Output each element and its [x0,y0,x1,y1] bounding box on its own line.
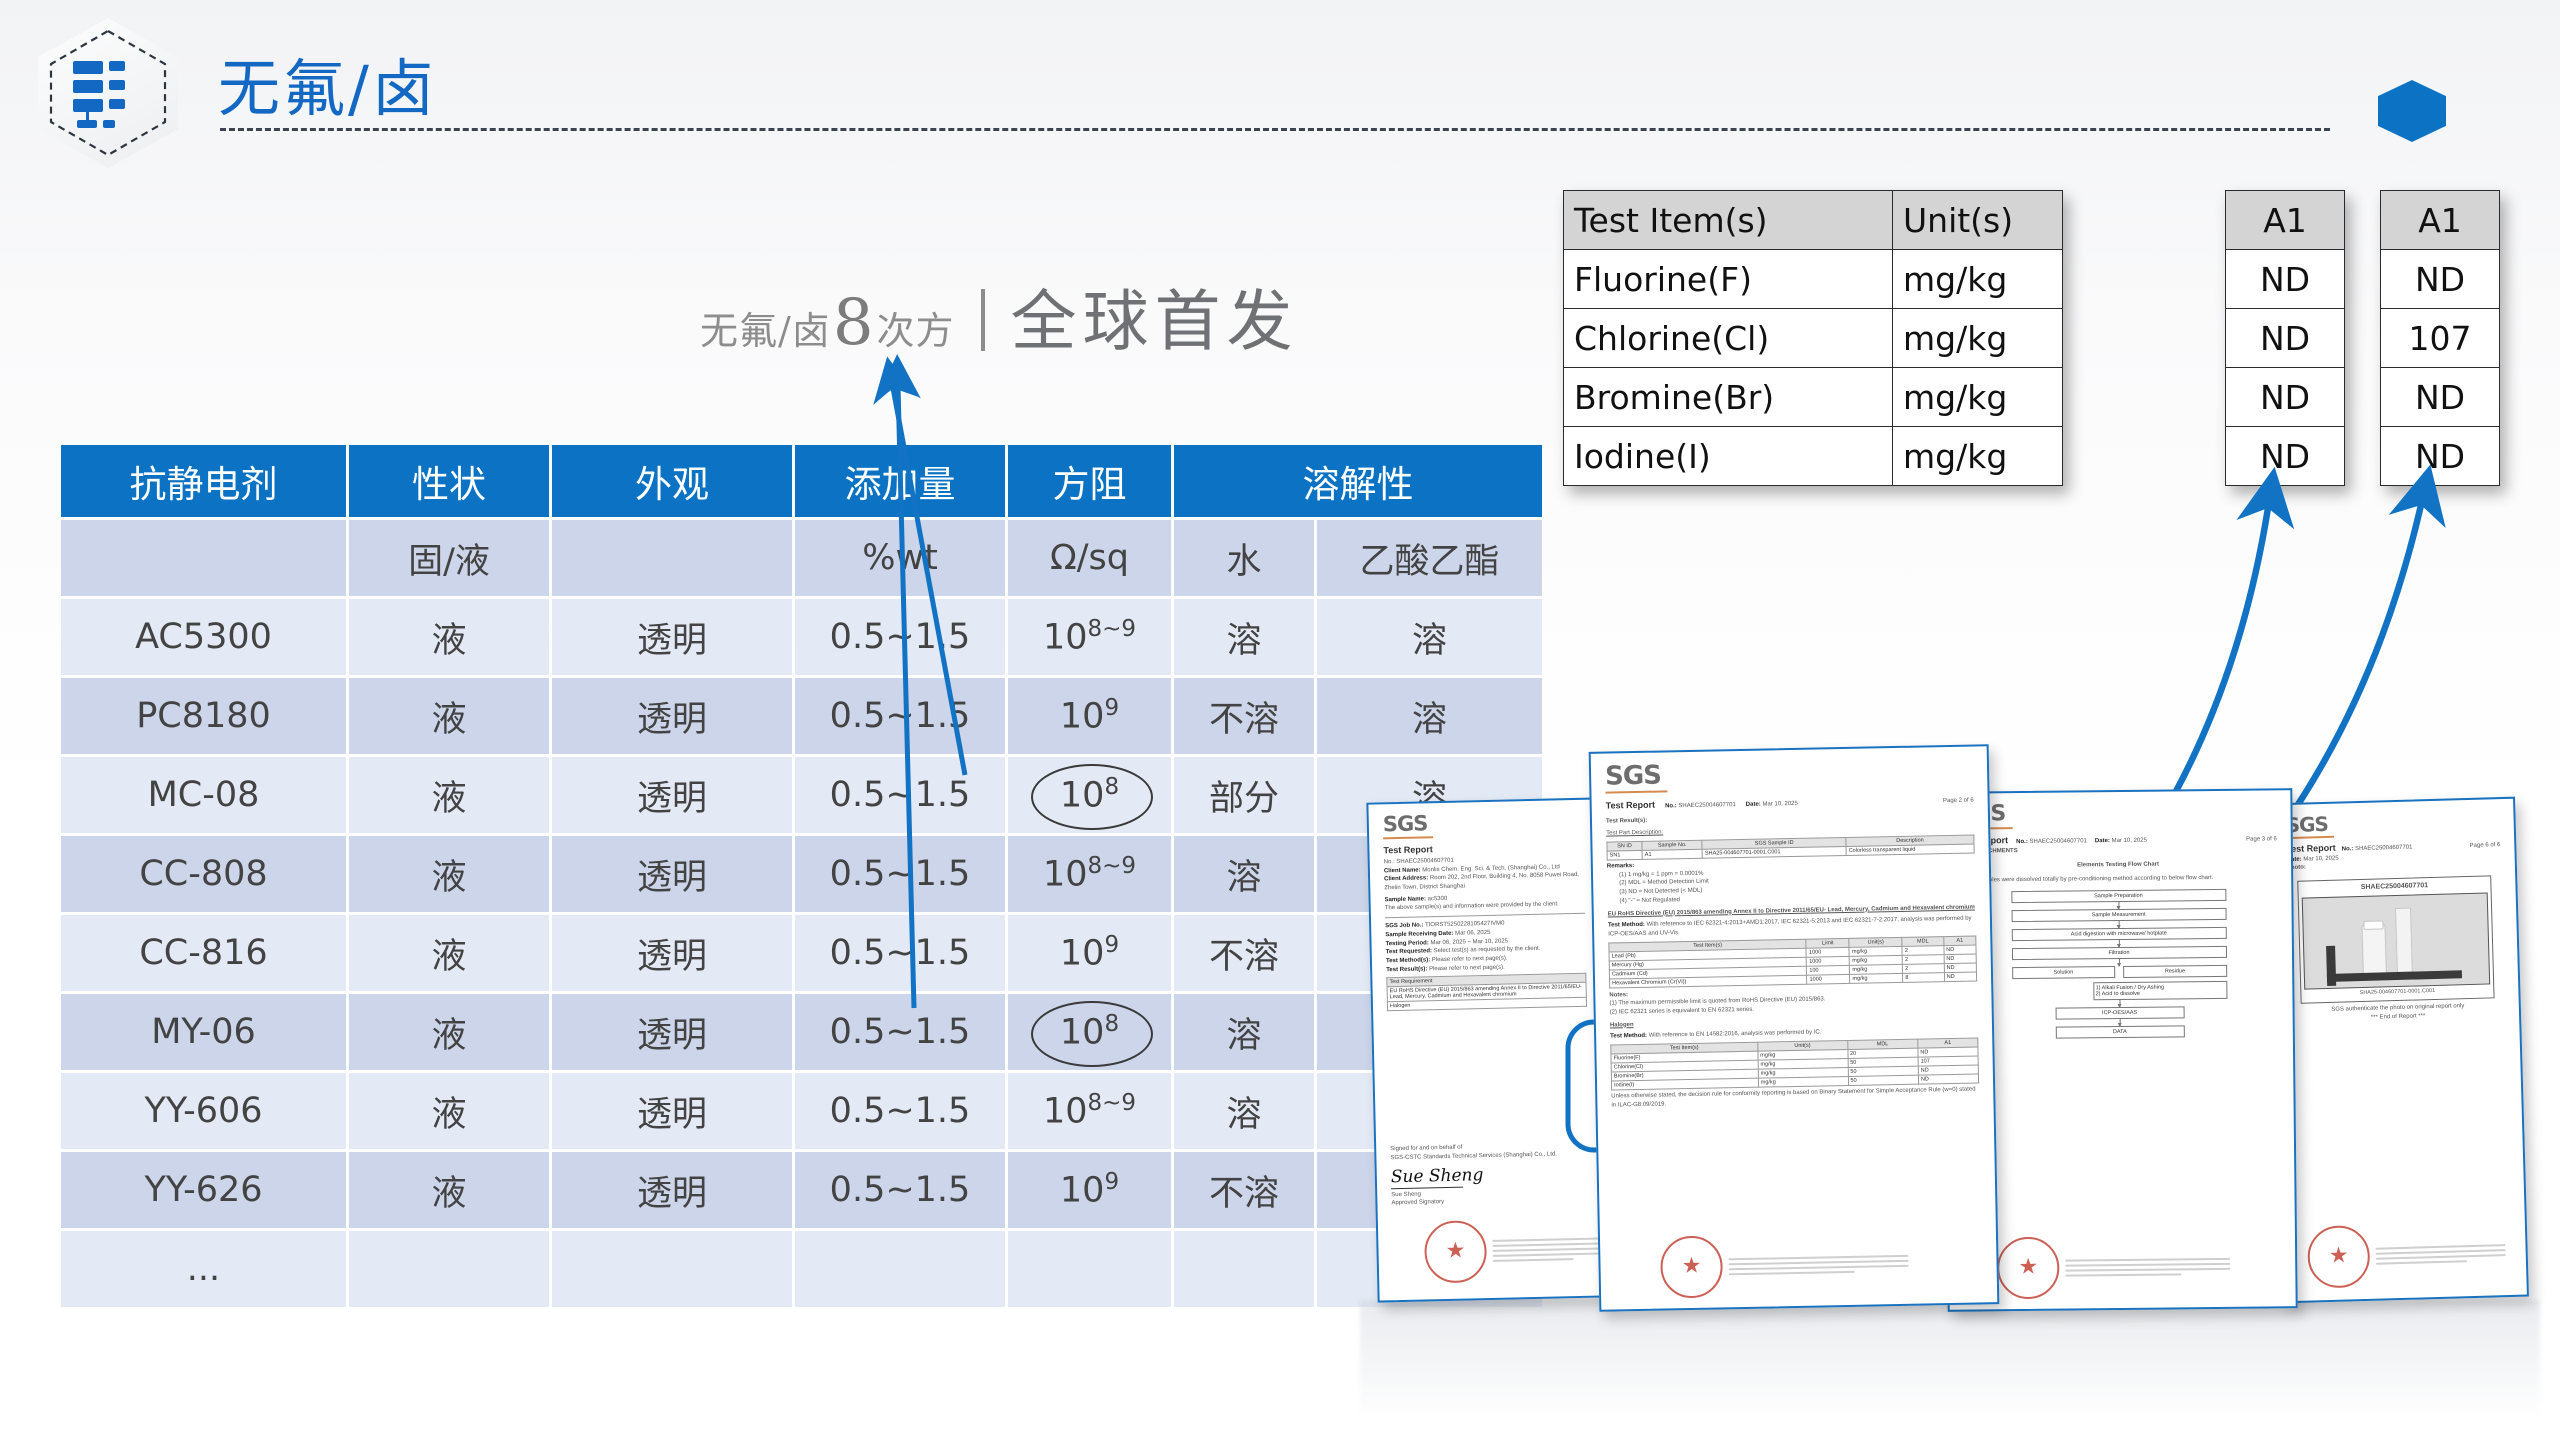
flow-step: Sample Measurement [2011,908,2226,922]
subheader-0 [61,520,346,596]
cell-solubility-water: 不溶 [1174,1152,1314,1228]
date-value: Mar 10, 2025 [2112,838,2147,844]
cover-field-label: Test Method(s): [1386,957,1430,964]
test-item-row: Iodine(I) mg/kg [1564,427,2063,486]
remarks-list: (1) 1 mg/kg = 1 ppm = 0.0001%(2) MDL = M… [1619,864,1976,906]
rohs-method: With reference to IEC 62321-4:2013+AMD1:… [1608,916,1971,938]
halogen-method: With reference to EN 14582:2016, analysi… [1649,1030,1822,1039]
cell-resistance: 108 [1008,757,1171,833]
page-indicator: Page 6 of 6 [2470,841,2501,851]
flowchart-title: Elements Testing Flow Chart [1959,860,2277,872]
cell-a1-value: ND [2226,250,2345,309]
cover-field-label: Test Result(s): [1386,966,1427,973]
cell-solubility-water: 部分 [1174,757,1314,833]
table-row[interactable]: MY-06 液 透明 0.5~1.5 108 溶 溶 [61,994,1542,1070]
flow-connector-icon [2118,940,2119,947]
cell-agent-name: MY-06 [61,994,346,1070]
report-no-label: No.: [2342,846,2354,852]
halogen-cell: 50 [1848,1075,1919,1085]
sgs-logo: SGS [2285,809,2499,835]
rohs-cell: ND [1944,972,1976,982]
subheader-6: 乙酸乙酯 [1317,520,1542,596]
table-row[interactable]: YY-626 液 透明 0.5~1.5 109 不溶 溶 [61,1152,1542,1228]
cell-a1-value: ND [2226,309,2345,368]
cell-solubility-ethyl-acetate: 溶 [1317,678,1542,754]
doc-title: Test Report [2286,843,2336,854]
subheader-3: %wt [795,520,1005,596]
halogen-cell: Iodine(I) [1611,1078,1758,1090]
table-row[interactable]: AC5300 液 透明 0.5~1.5 108~9 溶 溶 [61,599,1542,675]
subtitle-small: 无氟/卤 8 次方 [700,286,955,360]
a1-result-row: ND [2226,250,2345,309]
cell-appearance: 透明 [552,836,792,912]
report-no: SHAEC25004607701 [1396,858,1454,865]
a1-left-table-card: A1 ND ND ND ND [2225,190,2345,486]
cell-agent-name: AC5300 [61,599,346,675]
cell-dosage: 0.5~1.5 [795,1073,1005,1149]
cell-appearance: 透明 [552,1152,792,1228]
antistatic-agents-table: 抗静电剂 性状 外观 添加量 方阻 溶解性 固/液%wtΩ/sq水乙酸乙酯 AC… [58,442,1545,1310]
cell-state: 液 [349,757,549,833]
brand-badge [38,18,178,168]
sample-photo [2302,893,2490,990]
subtitle-divider [981,289,985,351]
cover-field-value: TIORST5250228105427IVM0 [1425,921,1505,929]
flow-step: Sample Preparation [2011,889,2226,903]
halogen-table-body: Fluorine(F)mg/kg20NDChlorine(Cl)mg/kg501… [1611,1047,1979,1090]
subheader-5: 水 [1174,520,1314,596]
requirement-table: Test Requirement EU RoHS Directive (EU) … [1386,973,1587,1012]
cover-field-label: Sample Receiving Date: [1385,931,1453,939]
doc-title: Test Report [1606,800,1656,811]
sgs-document-photo[interactable]: SGS Test Report No.: SHAEC25004607701 Pa… [2269,797,2529,1304]
page-indicator: Page 3 of 6 [2246,835,2277,844]
flow-connector-icon [2118,902,2119,909]
cell-agent-name: MC-08 [61,757,346,833]
sgs-document-results[interactable]: SGS Test Report No.: SHAEC25004607701 Da… [1589,744,2000,1312]
flow-step: ICP-OES/AAS [2055,1006,2184,1019]
table-body: 固/液%wtΩ/sq水乙酸乙酯 AC5300 液 透明 0.5~1.5 108~… [61,520,1542,1307]
col-header-dosage: 添加量 [795,445,1005,517]
flow-branch-left: Solution [2012,966,2116,979]
cell-dosage: 0.5~1.5 [795,836,1005,912]
cell-agent-name: YY-606 [61,1073,346,1149]
cell-dosage: 0.5~1.5 [795,599,1005,675]
part-cell: SN1 [1607,850,1642,860]
cell-agent-name: PC8180 [61,678,346,754]
cell-test-item: Iodine(I) [1564,427,1893,486]
cell-agent-name: CC-816 [61,915,346,991]
test-items-body: Fluorine(F) mg/kg Chlorine(Cl) mg/kg Bro… [1564,250,2063,486]
cell-dosage: 0.5~1.5 [795,678,1005,754]
resistance-circled: 108 [1060,1011,1119,1053]
cell-agent-name: CC-808 [61,836,346,912]
subtitle-block: 无氟/卤 8 次方 全球首发 [700,268,1299,364]
table-row[interactable]: MC-08 液 透明 0.5~1.5 108 部分 溶 [61,757,1542,833]
cell-appearance: 透明 [552,599,792,675]
signature: Sue Sheng [1391,1163,1558,1187]
subtitle-exponent: 8 [831,286,877,360]
cell-resistance: 108 [1008,994,1171,1070]
rohs-cell: 1000 [1807,974,1850,984]
page-title: 无氟/卤 [218,38,437,128]
test-items-header: Test Item(s) [1564,191,1893,250]
date-value: Mar 10, 2025 [1762,801,1797,808]
subtitle-highlight: 全球首发 [1011,268,1299,364]
sample-name-label: Sample Name: [1385,896,1426,903]
date-label: Date: [2095,838,2110,844]
cell-a1-value: ND [2226,427,2345,486]
cell-unit: mg/kg [1893,368,2063,427]
cell-a1-value: 107 [2381,309,2500,368]
a1-right-table-card: A1 ND 107 ND ND [2380,190,2500,486]
cell-solubility-water: 溶 [1174,836,1314,912]
server-rack-icon [71,58,147,130]
cell-dosage: 0.5~1.5 [795,994,1005,1070]
col-header-agent: 抗静电剂 [61,445,346,517]
subtitle-suffix: 次方 [877,300,955,355]
report-no-label: No.: [2016,839,2028,845]
rohs-cell: 8 [1903,972,1945,982]
a1-result-row: ND [2381,368,2500,427]
page-indicator: Page 2 of 6 [1943,797,1974,806]
test-item-row: Bromine(Br) mg/kg [1564,368,2063,427]
flow-step: DATA [2055,1025,2184,1038]
sgs-logo: SGS [1383,810,1583,836]
cell-appearance: 透明 [552,757,792,833]
halogen-cell: mg/kg [1758,1076,1848,1087]
cell-solubility-ethyl-acetate: 溶 [1317,599,1542,675]
cell-resistance: 108~9 [1008,1073,1171,1149]
cell-agent-name: YY-626 [61,1152,346,1228]
cell-state: 液 [349,994,549,1070]
report-no-label: No.: [1384,859,1395,865]
cell-a1-value: ND [2226,368,2345,427]
cover-field-value: Please refer to next page(s). [1432,955,1508,963]
table-header-row: 抗静电剂 性状 外观 添加量 方阻 溶解性 [61,445,1542,517]
date-value: Mar 10, 2025 [2303,855,2339,862]
cover-field-list: SGS Job No.: TIORST5250228105427IVM0 Sam… [1385,918,1586,975]
document-reflection [1360,1300,2540,1420]
cell-more: ... [61,1231,346,1307]
sgs-stamp-icon [1660,1235,1723,1298]
a1-right-table: A1 ND 107 ND ND [2380,190,2500,486]
test-item-row: Chlorine(Cl) mg/kg [1564,309,2063,368]
rohs-method-label: Test Method: [1608,922,1645,929]
cover-field-value: Mar 06, 2025 [1455,930,1490,937]
cell-unit: mg/kg [1893,427,2063,486]
cover-field-value: Select test(s) as requested by the clien… [1434,946,1541,954]
hexagon-accent-icon [2378,80,2446,142]
title-divider [220,128,2330,131]
report-no-label: No.: [1665,803,1677,809]
flow-connector-icon [2119,1019,2120,1026]
a1-result-row: ND [2381,427,2500,486]
report-no: SHAEC25004607701 [1678,802,1735,809]
part-cell: SHA25-004607701-0001.C001 [1702,847,1846,859]
test-items-table: Test Item(s) Unit(s) Fluorine(F) mg/kg C… [1563,190,2063,486]
flowchart-note: These samples were dissolved totally by … [1959,873,2277,885]
a1-result-row: ND [2381,250,2500,309]
cell-resistance: 109 [1008,678,1171,754]
requirement-body: EU RoHS Directive (EU) 2015/863 amending… [1387,983,1586,1012]
sgs-stamp-icon [2307,1225,2371,1289]
part-cell: A1 [1642,849,1702,859]
a1-left-header: A1 [2226,191,2345,250]
cell-solubility-water: 不溶 [1174,915,1314,991]
cell-a1-value: ND [2381,250,2500,309]
cell-a1-value: ND [2381,368,2500,427]
units-header: Unit(s) [1893,191,2063,250]
cell-resistance: 108~9 [1008,836,1171,912]
sgs-logo: SGS [1958,800,2276,825]
report-no: SHAEC25004607701 [2355,845,2413,853]
sgs-logo-bar [1383,836,1433,839]
cell-dosage: 0.5~1.5 [795,757,1005,833]
cover-field-value: Please refer to next page(s). [1429,964,1505,972]
rohs-table: Test Item(s)LimitUnit(s)MDLA1 Lead (Pb)1… [1608,935,1977,988]
test-item-row: Fluorine(F) mg/kg [1564,250,2063,309]
subheader-2 [552,520,792,596]
a1-right-header: A1 [2381,191,2500,250]
sgs-logo: SGS [1605,757,1973,790]
cell-state: 液 [349,915,549,991]
resistance-circled: 108 [1060,774,1119,816]
cell-solubility-water: 溶 [1174,994,1314,1070]
subheader-4: Ω/sq [1008,520,1171,596]
cell-test-item: Bromine(Br) [1564,368,1893,427]
a1-result-row: ND [2226,368,2345,427]
cell-solubility-water: 溶 [1174,1073,1314,1149]
cell-state: 液 [349,1152,549,1228]
page-header: 无氟/卤 [0,0,2560,180]
col-header-resistance: 方阻 [1008,445,1171,517]
remarks-label: Remarks: [1607,863,1634,870]
flow-branch: Solution Residue [2012,965,2227,979]
subtitle-prefix: 无氟/卤 [700,300,831,355]
cell-a1-value: ND [2381,427,2500,486]
a1-left-table: A1 ND ND ND ND [2225,190,2345,486]
a1-right-body: ND 107 ND ND [2381,250,2500,486]
table-subheader-row: 固/液%wtΩ/sq水乙酸乙酯 [61,520,1542,596]
date-label: Date: [1746,802,1761,808]
part-cell: Colorless transparent liquid [1846,844,1974,855]
halogen-cell: ND [1918,1074,1978,1084]
flow-connector-icon [2119,1000,2120,1007]
cover-field-label: Testing Period: [1385,940,1428,947]
subheader-1: 固/液 [349,520,549,596]
a1-result-row: ND [2226,427,2345,486]
table-row[interactable]: PC8180 液 透明 0.5~1.5 109 不溶 溶 [61,678,1542,754]
halogen-table: Test Item(s)Unit(s)MDLA1 Fluorine(F)mg/k… [1610,1037,1979,1090]
cell-state: 液 [349,599,549,675]
client-address-label: Client Address: [1384,876,1428,883]
a1-result-row: 107 [2381,309,2500,368]
sample-name: ac5300 [1428,896,1448,902]
cell-resistance: 108~9 [1008,599,1171,675]
table-row-more[interactable]: ... [61,1231,1542,1307]
col-header-solubility: 溶解性 [1174,445,1542,517]
rohs-cell: mg/kg [1850,973,1903,983]
cell-appearance: 透明 [552,678,792,754]
a1-left-body: ND ND ND ND [2226,250,2345,486]
cover-field-label: SGS Job No.: [1385,923,1423,930]
flow-branch-right: Residue [2123,965,2227,978]
cell-test-item: Fluorine(F) [1564,250,1893,309]
cover-field-value: Mar 06, 2025 ~ Mar 10, 2025 [1430,938,1508,946]
cover-field-label: Test Requested: [1386,948,1432,955]
flow-branch-detail: 1) Alkali Fusion / Dry Ashing2) Acid to … [2093,981,2226,1000]
cell-state: 液 [349,836,549,912]
sgs-stamp-icon [1997,1237,2060,1300]
flow-connector-icon [2118,921,2119,928]
report-no: SHAEC25004607701 [2029,838,2086,845]
cell-solubility-water: 不溶 [1174,678,1314,754]
halogen-method-label: Test Method: [1610,1033,1647,1040]
table-row[interactable]: CC-816 液 透明 0.5~1.5 109 不溶 溶 [61,915,1542,991]
a1-result-row: ND [2226,309,2345,368]
cell-test-item: Chlorine(Cl) [1564,309,1893,368]
flow-step: Acid digestion with microwave/ hotplate [2011,927,2226,941]
cell-dosage: 0.5~1.5 [795,1152,1005,1228]
table-row[interactable]: CC-808 液 透明 0.5~1.5 108~9 溶 溶 [61,836,1542,912]
cell-solubility-water: 溶 [1174,599,1314,675]
cell-dosage: 0.5~1.5 [795,915,1005,991]
cell-appearance: 透明 [552,994,792,1070]
table-row[interactable]: YY-606 液 透明 0.5~1.5 108~9 溶 溶 [61,1073,1542,1149]
flowchart-diagram: Sample PreparationSample MeasurementAcid… [2011,889,2228,1039]
cell-unit: mg/kg [1893,250,2063,309]
client-name-label: Client Name: [1384,867,1421,874]
sgs-stamp-icon [1424,1220,1487,1283]
flow-connector-icon [2119,959,2120,966]
cell-state: 液 [349,1073,549,1149]
cell-appearance: 透明 [552,915,792,991]
cell-appearance: 透明 [552,1073,792,1149]
sgs-document-cover[interactable]: SGS Test Report No.: SHAEC25004607701 Cl… [1366,797,1609,1302]
flow-step: Filtration [2011,946,2226,960]
cell-state: 液 [349,678,549,754]
rohs-table-body: Lead (Pb)1000mg/kg2NDMercury (Hg)1000mg/… [1609,945,1977,988]
cell-resistance: 109 [1008,915,1171,991]
doc-title: Test Report [1383,841,1583,856]
test-items-table-card: Test Item(s) Unit(s) Fluorine(F) mg/kg C… [1563,190,2063,486]
cell-resistance: 109 [1008,1152,1171,1228]
col-header-state: 性状 [349,445,549,517]
col-header-appearance: 外观 [552,445,792,517]
cell-unit: mg/kg [1893,309,2063,368]
